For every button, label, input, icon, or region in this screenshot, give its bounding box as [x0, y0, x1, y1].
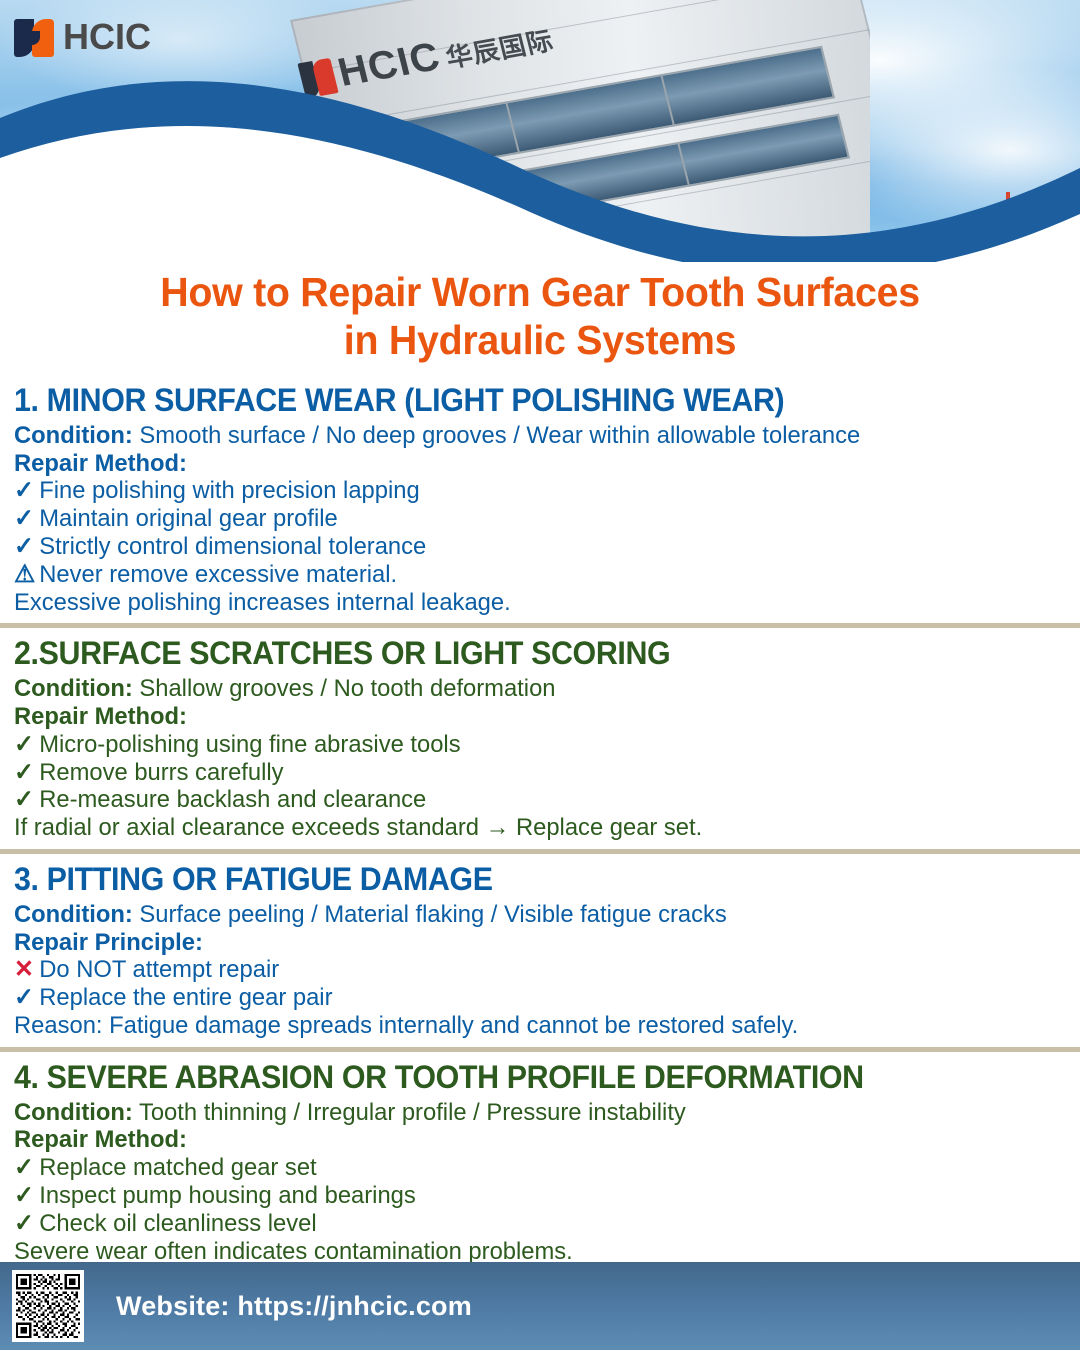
section-4-heading: 4. SEVERE ABRASION OR TOOTH PROFILE DEFO…	[14, 1060, 1013, 1096]
list-item-label: Never remove excessive material.	[39, 561, 397, 588]
hcic-logo-icon	[14, 17, 54, 57]
qr-code-icon[interactable]	[12, 1270, 84, 1342]
section-3: 3. PITTING OR FATIGUE DAMAGE Condition: …	[0, 862, 1080, 1040]
section-divider	[0, 1047, 1080, 1052]
section-3-note: Reason: Fatigue damage spreads internall…	[14, 1012, 1034, 1040]
section-3-method-label: Repair Principle:	[14, 929, 1034, 957]
list-item: ✓Fine polishing with precision lapping	[14, 477, 1034, 505]
website-label[interactable]: Website: https://jnhcic.com	[116, 1291, 472, 1322]
list-item: ✓Check oil cleanliness level	[14, 1210, 1034, 1238]
list-item: ✓Replace the entire gear pair	[14, 984, 1034, 1012]
list-item: ✓Inspect pump housing and bearings	[14, 1182, 1034, 1210]
section-4: 4. SEVERE ABRASION OR TOOTH PROFILE DEFO…	[0, 1060, 1080, 1266]
section-3-heading: 3. PITTING OR FATIGUE DAMAGE	[14, 862, 1013, 898]
list-item-label: Remove burrs carefully	[39, 759, 283, 786]
list-item: ✕Do NOT attempt repair	[14, 956, 1034, 984]
cross-icon: ✕	[14, 956, 39, 984]
section-1-heading: 1. MINOR SURFACE WEAR (LIGHT POLISHING W…	[14, 383, 1013, 419]
list-item-label: Fine polishing with precision lapping	[39, 477, 419, 504]
section-4-method-label: Repair Method:	[14, 1126, 1034, 1154]
page-title-line1: How to Repair Worn Gear Tooth Surfaces	[22, 268, 1059, 316]
check-icon: ✓	[14, 984, 39, 1012]
section-3-condition: Condition: Surface peeling / Material fl…	[14, 901, 1034, 929]
list-item-label: Inspect pump housing and bearings	[39, 1182, 416, 1209]
section-1-method-label: Repair Method:	[14, 450, 1034, 478]
section-1-condition: Condition: Smooth surface / No deep groo…	[14, 422, 1034, 450]
sections-list: 1. MINOR SURFACE WEAR (LIGHT POLISHING W…	[0, 383, 1080, 1265]
check-icon: ✓	[14, 759, 39, 787]
section-2-condition: Condition: Shallow grooves / No tooth de…	[14, 675, 1034, 703]
check-icon: ✓	[14, 477, 39, 505]
footer-bar: Website: https://jnhcic.com	[0, 1262, 1080, 1350]
list-item-label: Replace matched gear set	[39, 1154, 316, 1181]
check-icon: ✓	[14, 533, 39, 561]
list-item-label: Check oil cleanliness level	[39, 1210, 316, 1237]
hcic-logo-text: HCIC	[63, 19, 151, 55]
section-1: 1. MINOR SURFACE WEAR (LIGHT POLISHING W…	[0, 383, 1080, 616]
section-divider	[0, 849, 1080, 854]
section-2: 2.SURFACE SCRATCHES OR LIGHT SCORING Con…	[0, 636, 1080, 842]
list-item-label: Strictly control dimensional tolerance	[39, 533, 426, 560]
page-title: How to Repair Worn Gear Tooth Surfaces i…	[22, 268, 1059, 365]
section-4-condition-text: Tooth thinning / Irregular profile / Pre…	[133, 1099, 686, 1126]
section-1-condition-text: Smooth surface / No deep grooves / Wear …	[133, 422, 860, 449]
section-2-condition-label: Condition:	[14, 675, 133, 702]
list-item-label: Maintain original gear profile	[39, 505, 338, 532]
section-1-note: Excessive polishing increases internal l…	[14, 589, 1034, 617]
blue-wave-band	[0, 0, 1080, 262]
section-divider	[0, 623, 1080, 628]
header-banner: HCIC华辰国际 HCIC	[0, 0, 1080, 262]
list-item: ✓Re-measure backlash and clearance	[14, 786, 1034, 814]
page-title-line2: in Hydraulic Systems	[22, 316, 1059, 364]
list-item-label: Micro-polishing using fine abrasive tool…	[39, 731, 460, 758]
check-icon: ✓	[14, 731, 39, 759]
warning-icon: ⚠	[14, 561, 39, 589]
section-2-condition-text: Shallow grooves / No tooth deformation	[133, 675, 556, 702]
list-item-label: Do NOT attempt repair	[39, 956, 279, 983]
section-4-condition: Condition: Tooth thinning / Irregular pr…	[14, 1099, 1034, 1127]
list-item: ✓Replace matched gear set	[14, 1154, 1034, 1182]
hcic-logo: HCIC	[14, 16, 151, 58]
section-4-condition-label: Condition:	[14, 1099, 133, 1126]
section-2-heading: 2.SURFACE SCRATCHES OR LIGHT SCORING	[14, 636, 1013, 672]
section-2-note: If radial or axial clearance exceeds sta…	[14, 814, 1034, 842]
section-3-condition-text: Surface peeling / Material flaking / Vis…	[133, 901, 727, 928]
check-icon: ✓	[14, 1182, 39, 1210]
list-item: ✓Micro-polishing using fine abrasive too…	[14, 731, 1034, 759]
section-1-condition-label: Condition:	[14, 422, 133, 449]
list-item: ✓Remove burrs carefully	[14, 759, 1034, 787]
check-icon: ✓	[14, 1210, 39, 1238]
check-icon: ✓	[14, 1154, 39, 1182]
section-3-condition-label: Condition:	[14, 901, 133, 928]
list-item: ⚠Never remove excessive material.	[14, 561, 1034, 589]
list-item-label: Replace the entire gear pair	[39, 984, 332, 1011]
list-item: ✓Maintain original gear profile	[14, 505, 1034, 533]
list-item: ✓Strictly control dimensional tolerance	[14, 533, 1034, 561]
list-item-label: Re-measure backlash and clearance	[39, 786, 426, 813]
check-icon: ✓	[14, 786, 39, 814]
check-icon: ✓	[14, 505, 39, 533]
section-2-method-label: Repair Method:	[14, 703, 1034, 731]
